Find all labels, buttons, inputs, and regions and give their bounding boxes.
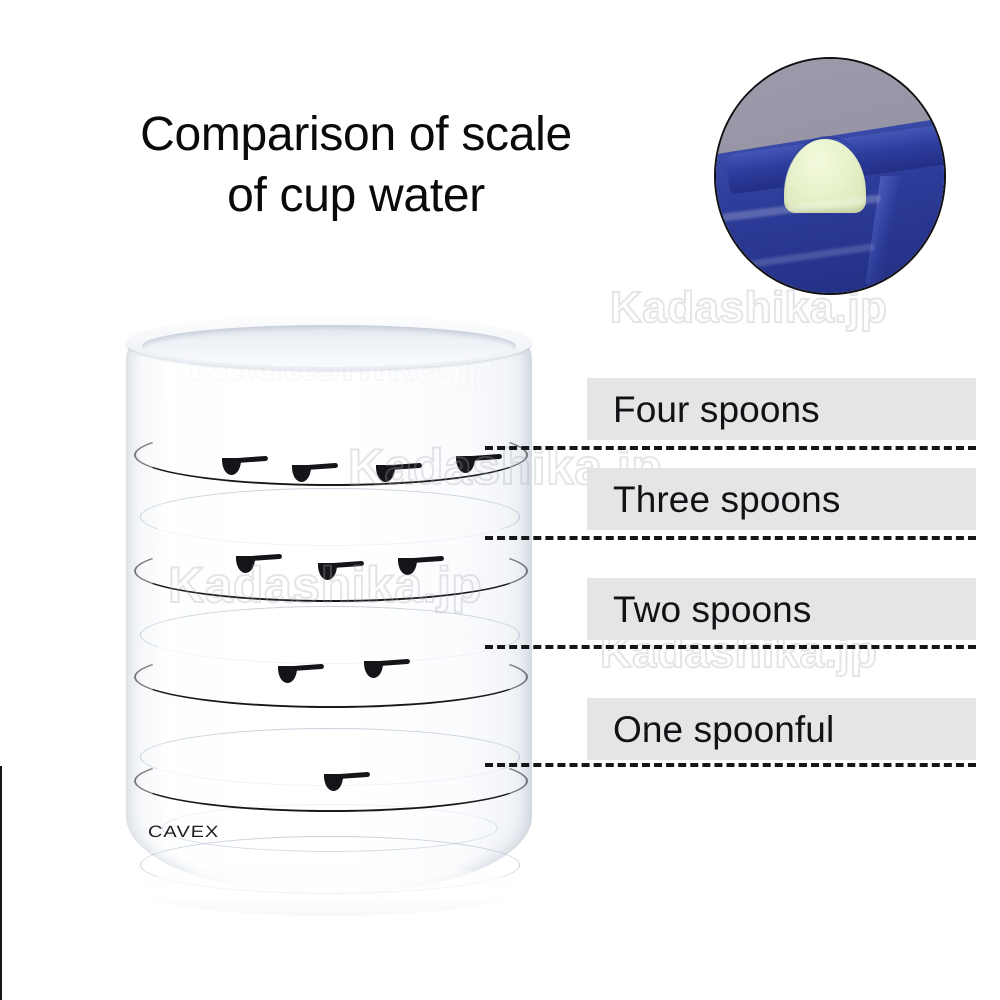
cup-rim-inner [142, 325, 516, 367]
callout-label-four-spoons: Four spoons [587, 378, 976, 440]
measuring-cup: CAVEX [126, 316, 532, 916]
spoon-marker [376, 463, 422, 483]
spoon-handle-icon [339, 772, 370, 779]
callout-text: Two spoons [613, 591, 811, 628]
spoon-marker [456, 454, 502, 474]
callout-label-one-spoonful: One spoonful [587, 698, 976, 760]
callout-label-two-spoons: Two spoons [587, 578, 976, 640]
callout-text: One spoonful [613, 711, 834, 748]
spoon-marker [398, 556, 444, 576]
spoon-marker [222, 456, 268, 476]
photo-content [716, 59, 944, 293]
ring-back-one [140, 836, 520, 894]
product-infographic: Comparison of scale of cup water Kadashi… [0, 0, 1000, 1000]
spoon-marker [318, 561, 364, 581]
leader-line-three-spoons [485, 536, 976, 540]
spoon-marker [278, 664, 324, 684]
spoon-handle-icon [293, 664, 324, 671]
spoon-handle-icon [333, 561, 364, 568]
image-edge-hairline [0, 766, 2, 1000]
leader-line-four-spoons [485, 446, 976, 450]
callout-text: Four spoons [613, 391, 820, 428]
spoon-handle-icon [413, 556, 444, 563]
spoon-handle-icon [307, 463, 338, 470]
spoon-handle-icon [391, 463, 422, 470]
spoon-marker [236, 554, 282, 574]
spoon-marker [324, 772, 370, 792]
scoop-closeup-photo [714, 57, 946, 295]
page-title: Comparison of scale of cup water [56, 104, 656, 227]
leader-line-two-spoons [485, 645, 976, 649]
spoon-marker [292, 463, 338, 483]
spoon-marker [364, 659, 410, 679]
callout-text: Three spoons [613, 481, 840, 518]
callout-label-three-spoons: Three spoons [587, 468, 976, 530]
spoon-handle-icon [471, 454, 502, 461]
graduation-line-two [134, 646, 528, 708]
ring-back-four [140, 488, 520, 546]
spoon-handle-icon [251, 554, 282, 561]
cavex-brand-logo: CAVEX [148, 823, 220, 842]
spoon-handle-icon [237, 456, 268, 463]
spoon-handle-icon [379, 659, 410, 666]
leader-line-one-spoonful [485, 763, 976, 767]
